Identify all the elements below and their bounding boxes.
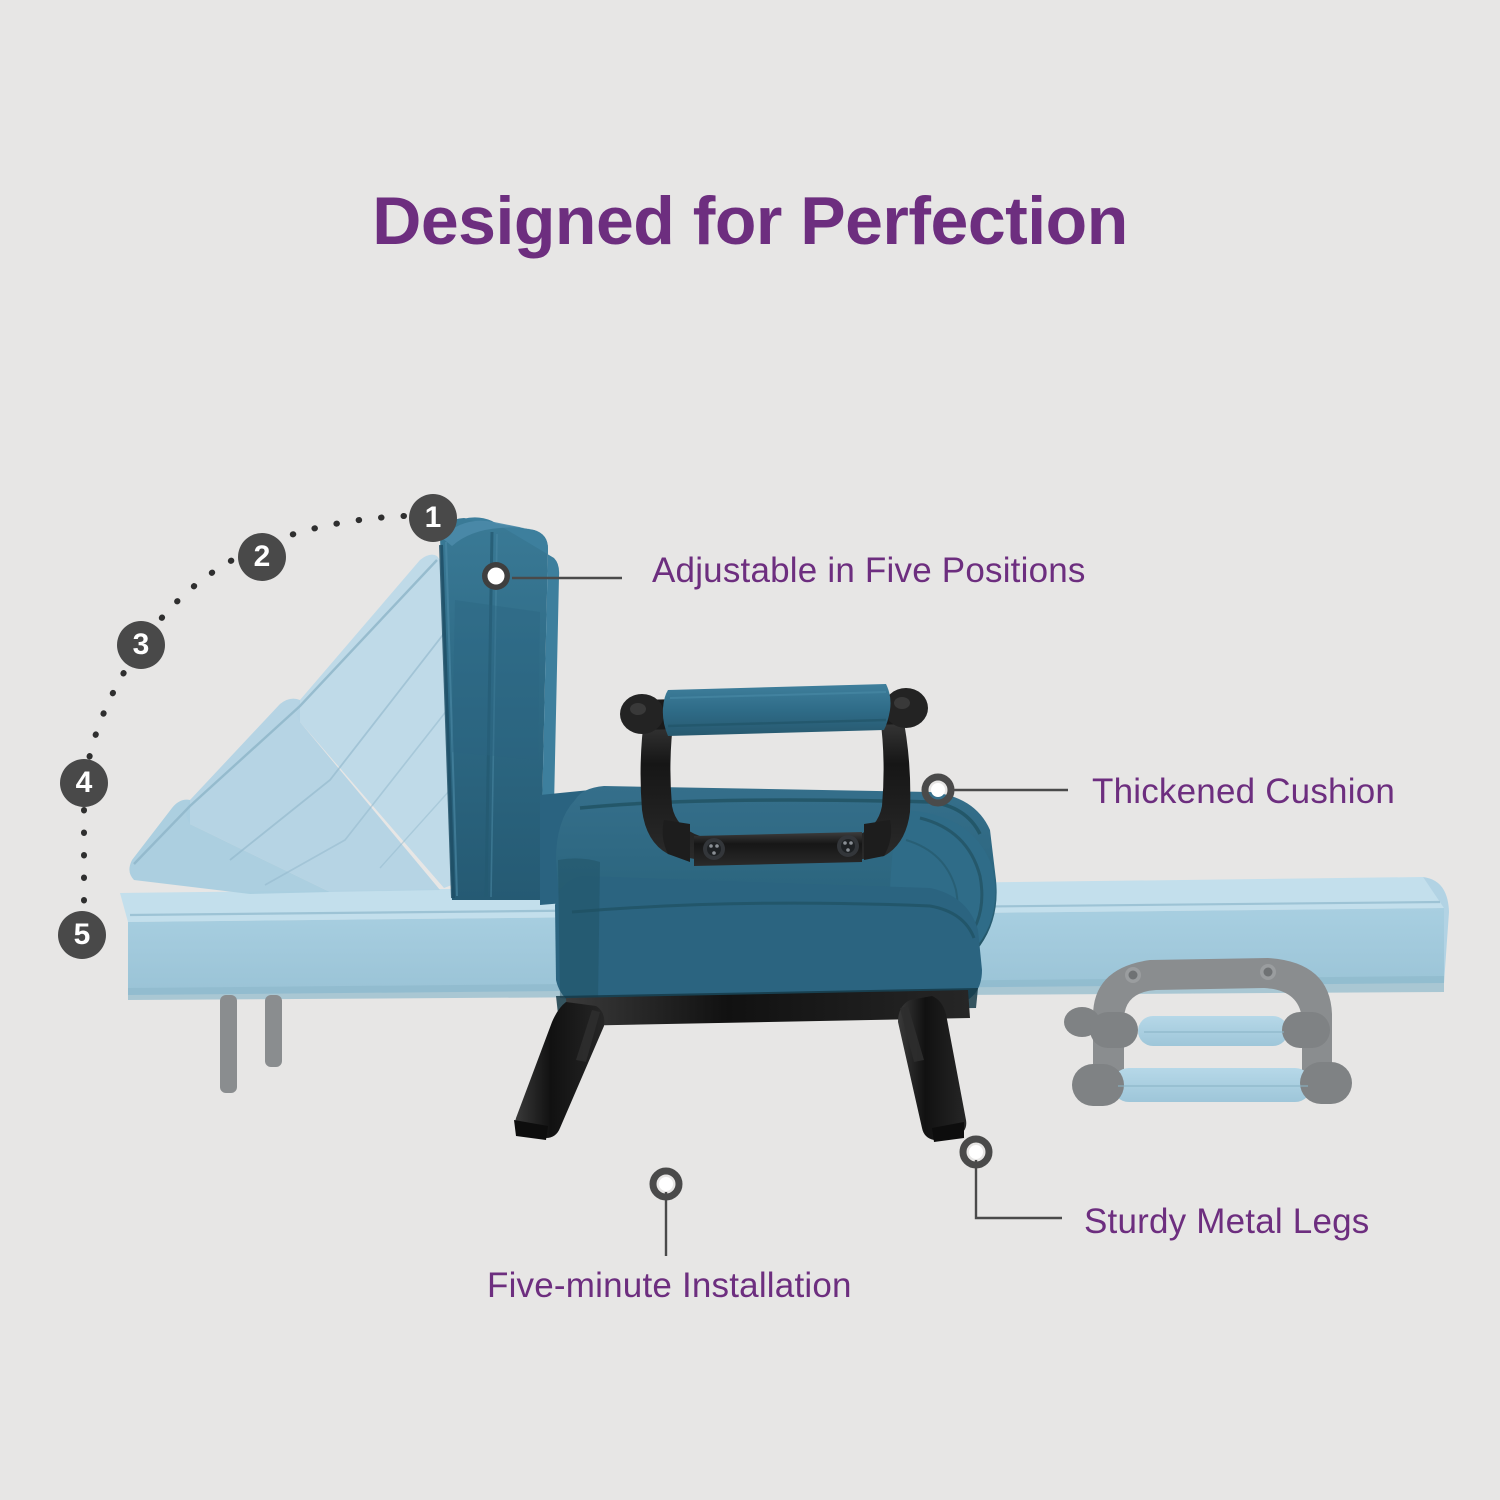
chair-metal-legs: [514, 990, 970, 1142]
ghost-armrest: [1064, 958, 1352, 1106]
ghost-backrest-fan: [129, 555, 470, 894]
backrest-grommet: [482, 562, 510, 590]
leader-legs: [976, 1160, 1062, 1218]
armrest-fabric-wrap: [663, 684, 891, 736]
ghost-legs: [220, 995, 282, 1093]
position-badge-3[interactable]: 3: [117, 621, 165, 669]
callout-label-five-minute-installation: Five-minute Installation: [487, 1266, 852, 1306]
seat-cushion: [540, 786, 997, 1014]
infographic-canvas: Designed for Perfection: [0, 0, 1500, 1500]
position-badge-5[interactable]: 5: [58, 911, 106, 959]
position-badge-4[interactable]: 4: [60, 759, 108, 807]
callout-label-thickened-cushion: Thickened Cushion: [1092, 772, 1395, 812]
position-badge-1[interactable]: 1: [409, 494, 457, 542]
callout-label-adjustable: Adjustable in Five Positions: [652, 551, 1086, 591]
callout-label-sturdy-metal-legs: Sturdy Metal Legs: [1084, 1202, 1370, 1242]
position-badge-2[interactable]: 2: [238, 533, 286, 581]
